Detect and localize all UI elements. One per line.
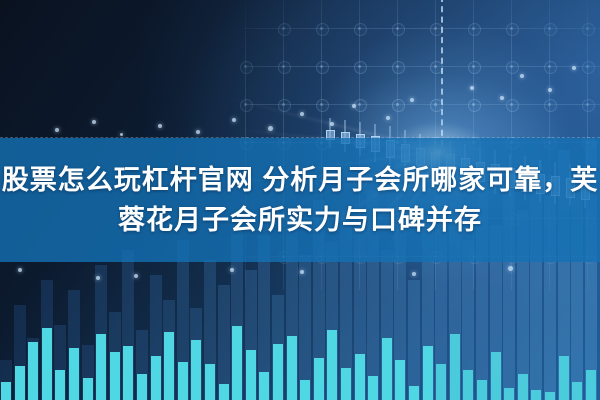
sparkle-dot xyxy=(300,270,304,274)
volume-bar xyxy=(572,382,582,400)
sparkle-dot xyxy=(410,98,414,102)
grid-node xyxy=(316,23,329,36)
grid-node xyxy=(392,61,405,74)
volume-bar xyxy=(42,328,52,400)
volume-bar xyxy=(368,376,378,400)
volume-bar xyxy=(450,334,460,400)
grid-node xyxy=(544,99,557,112)
sparkle-dot xyxy=(300,112,304,116)
grid-node xyxy=(506,99,519,112)
grid-node xyxy=(392,99,405,112)
sparkle-dot xyxy=(508,266,513,271)
grid-node xyxy=(582,99,595,112)
volume-bar xyxy=(69,348,79,400)
sparkle-dot xyxy=(470,86,474,90)
sparkle-dot xyxy=(232,118,236,122)
volume-bar xyxy=(205,364,215,400)
grid-node xyxy=(278,23,291,36)
banner-image: 股票怎么玩杠杆官网 分析月子会所哪家可靠，芙 蓉花月子会所实力与口碑并存 xyxy=(0,0,600,400)
sparkle-dot xyxy=(18,268,22,272)
volume-bar xyxy=(232,326,242,400)
sparkle-dot xyxy=(55,128,59,132)
grid-node xyxy=(468,23,481,36)
volume-bar xyxy=(559,356,569,400)
volume-bar xyxy=(409,386,419,400)
volume-bar xyxy=(219,384,229,400)
sparkle-dot xyxy=(120,133,123,136)
grid-node xyxy=(392,23,405,36)
sparkle-dot xyxy=(330,122,334,126)
grid-node xyxy=(316,61,329,74)
volume-bar xyxy=(259,372,269,400)
grid-node xyxy=(506,23,519,36)
volume-bar xyxy=(178,362,188,400)
volume-bar xyxy=(586,370,596,400)
sparkle-dot xyxy=(386,116,390,120)
volume-bar xyxy=(287,336,297,400)
price-column xyxy=(218,285,230,400)
volume-bar xyxy=(96,334,106,400)
volume-bar xyxy=(137,374,147,400)
grid-node xyxy=(278,61,291,74)
sparkle-dot xyxy=(158,124,162,128)
volume-bar xyxy=(382,338,392,400)
grid-node xyxy=(506,61,519,74)
price-column xyxy=(299,255,311,400)
volume-bar xyxy=(477,380,487,400)
volume-bar xyxy=(355,354,365,400)
volume-bar xyxy=(151,356,161,400)
grid-node xyxy=(240,61,253,74)
grid-node xyxy=(316,99,329,112)
sparkle-dot xyxy=(520,74,524,78)
volume-bar xyxy=(55,370,65,400)
banner-line-2: 蓉花月子会所实力与口碑并存 xyxy=(118,200,482,240)
volume-bar xyxy=(300,380,310,400)
grid-node xyxy=(354,23,367,36)
sparkle-dot xyxy=(548,88,552,92)
sparkle-dot xyxy=(92,120,96,124)
volume-bar xyxy=(15,366,25,400)
volume-bar xyxy=(246,350,256,400)
sparkle-dot xyxy=(412,272,416,276)
volume-bar xyxy=(83,378,93,400)
volume-bar xyxy=(327,330,337,400)
sparkle-dot xyxy=(134,274,138,278)
sparkle-dot xyxy=(572,66,576,70)
volume-bar xyxy=(110,352,120,400)
grid-node xyxy=(544,61,557,74)
grid-node xyxy=(544,23,557,36)
sparkle-dot xyxy=(268,126,273,131)
volume-bar xyxy=(341,368,351,400)
dashed-vertical-line xyxy=(441,0,443,146)
grid-node xyxy=(468,99,481,112)
price-column xyxy=(408,280,420,400)
grid-node xyxy=(468,61,481,74)
volume-bar xyxy=(273,344,283,400)
volume-bar xyxy=(463,370,473,400)
sparkle-dot xyxy=(96,276,100,280)
sparkle-dot xyxy=(196,130,200,134)
sparkle-dot xyxy=(230,268,234,272)
grid-node xyxy=(582,23,595,36)
volume-bar xyxy=(28,342,38,400)
volume-bar xyxy=(436,364,446,400)
grid-node xyxy=(582,61,595,74)
volume-bar xyxy=(531,390,541,400)
sparkle-dot xyxy=(352,104,356,108)
banner-line-1: 股票怎么玩杠杆官网 分析月子会所哪家可靠，芙 xyxy=(2,160,599,200)
volume-bar xyxy=(504,388,514,400)
volume-bar xyxy=(1,382,11,400)
volume-bar xyxy=(545,392,555,400)
volume-bar xyxy=(491,352,501,400)
volume-bar xyxy=(123,346,133,400)
volume-bar xyxy=(314,358,324,400)
volume-bar xyxy=(191,340,201,400)
volume-bar xyxy=(395,360,405,400)
volume-bar xyxy=(164,332,174,400)
grid-node xyxy=(354,61,367,74)
title-banner: 股票怎么玩杠杆官网 分析月子会所哪家可靠，芙 蓉花月子会所实力与口碑并存 xyxy=(0,138,600,262)
volume-bar xyxy=(518,374,528,400)
volume-bar xyxy=(423,346,433,400)
sparkle-dot xyxy=(500,96,504,100)
